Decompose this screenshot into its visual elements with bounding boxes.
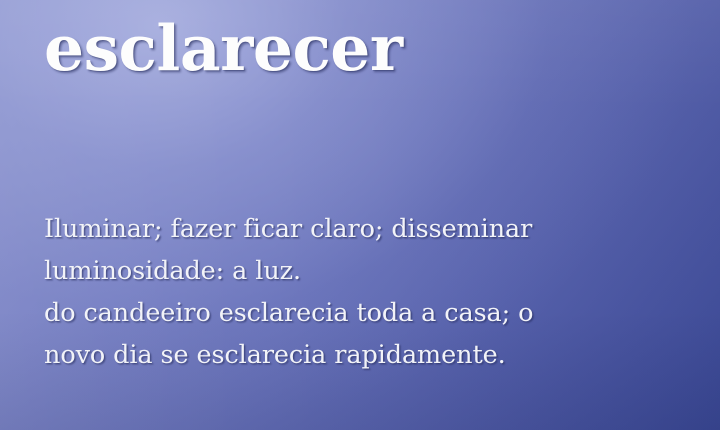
definition-line: luminosidade: a luz. [44,250,684,292]
definition-line: do candeeiro esclarecia toda a casa; o [44,292,684,334]
headword-title: esclarecer [44,13,403,84]
definition-text-block: Iluminar; fazer ficar claro; disseminar … [44,208,684,376]
definition-line: Iluminar; fazer ficar claro; disseminar [44,208,684,250]
definition-line: novo dia se esclarecia rapidamente. [44,334,684,376]
definition-slide: esclarecer Iluminar; fazer ficar claro; … [0,0,720,430]
